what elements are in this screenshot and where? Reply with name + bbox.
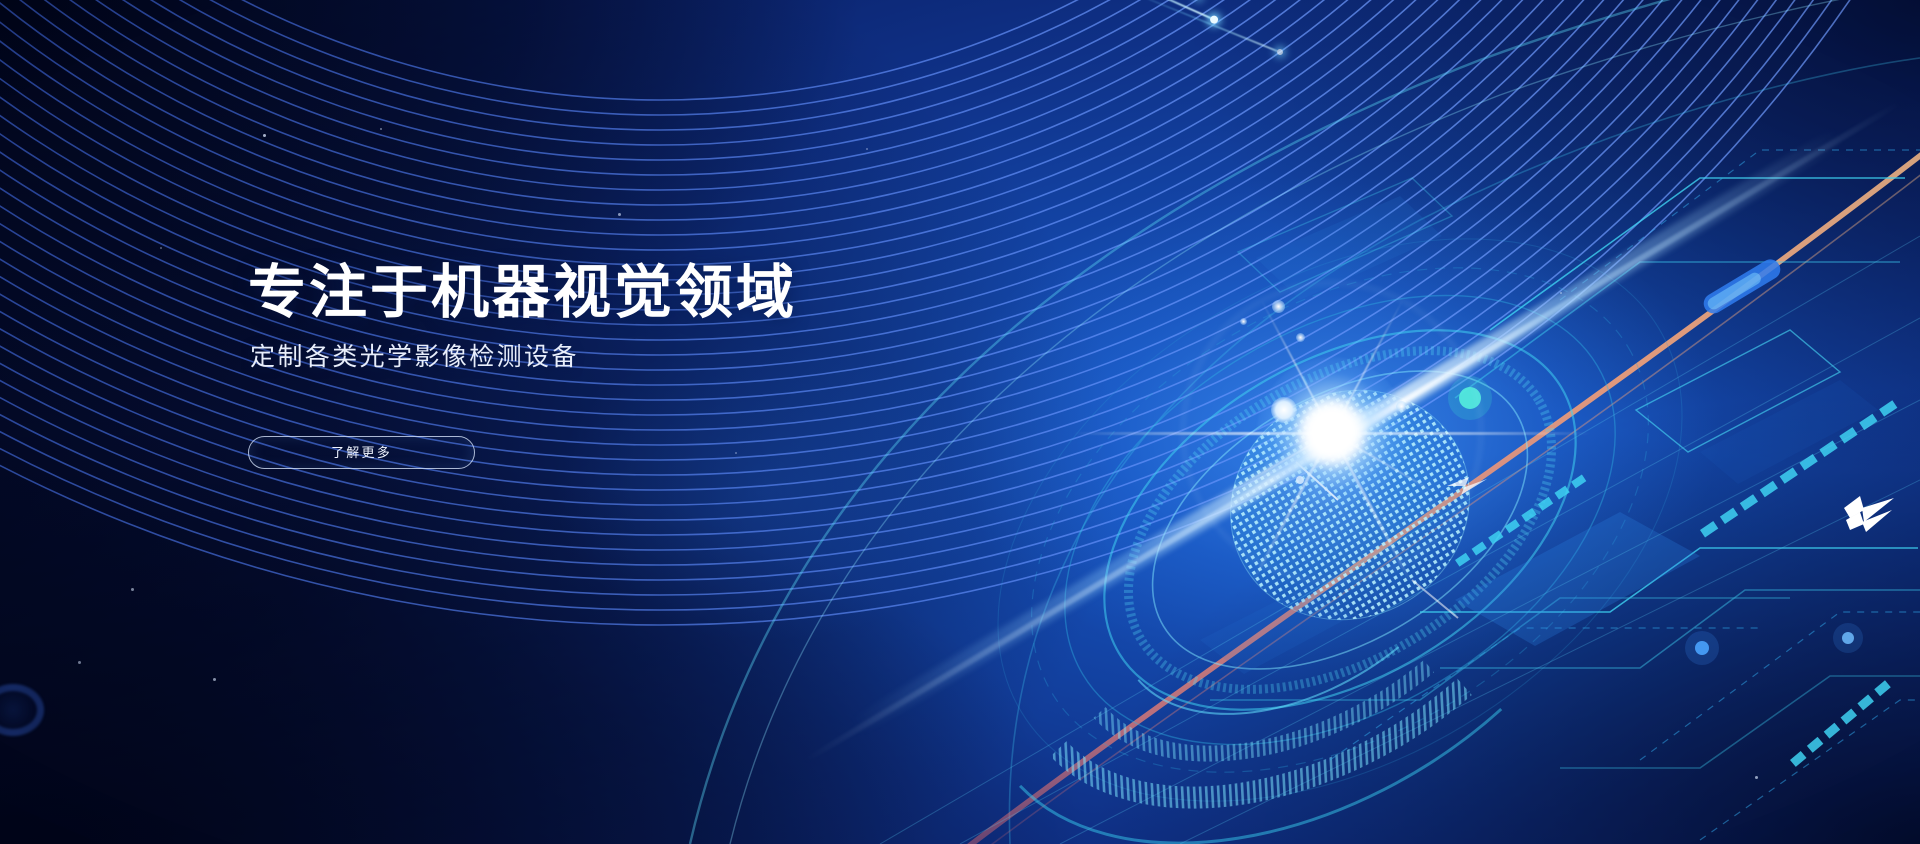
double-chevron-arrow-icon [1840, 492, 1898, 536]
flare-orb [1296, 333, 1305, 342]
flare-orb [1272, 300, 1285, 313]
flare-orb [1240, 318, 1247, 325]
page-subtitle: 定制各类光学影像检测设备 [250, 341, 1008, 374]
flare-orb [1271, 397, 1297, 423]
hero-banner: 专注于机器视觉领域 定制各类光学影像检测设备 了解更多 [0, 0, 1920, 844]
flare-orb [1396, 401, 1407, 412]
learn-more-button[interactable]: 了解更多 [248, 436, 475, 469]
page-title: 专注于机器视觉领域 [248, 262, 1008, 323]
hero-content: 专注于机器视觉领域 定制各类光学影像检测设备 了解更多 [248, 262, 1008, 469]
